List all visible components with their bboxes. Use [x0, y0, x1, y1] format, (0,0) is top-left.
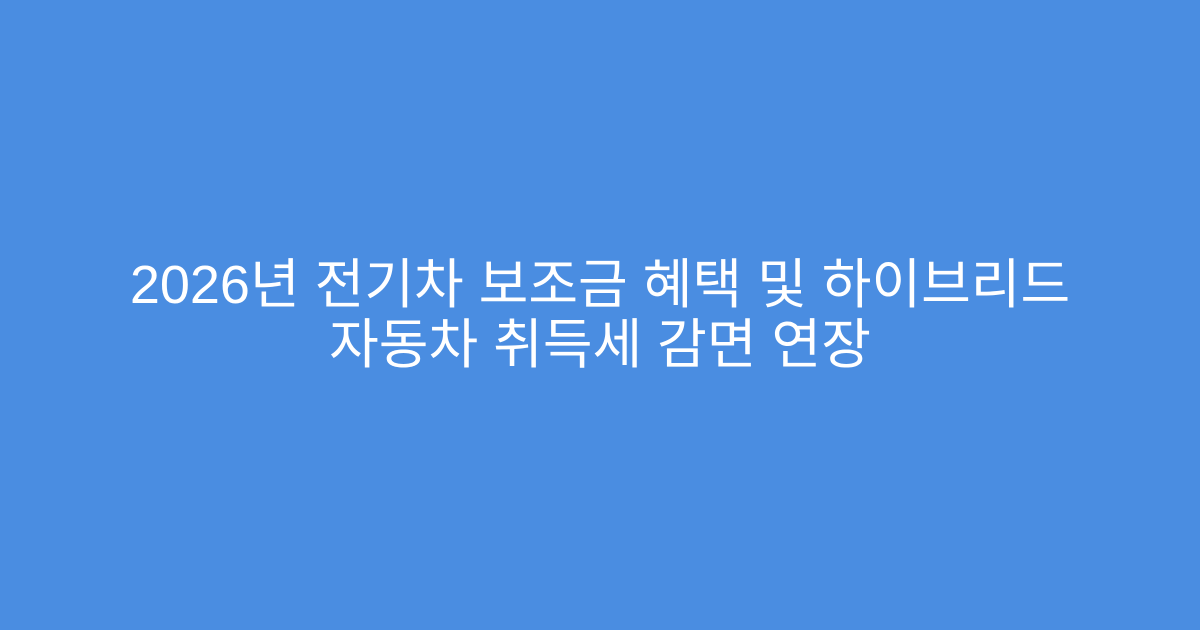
card-content-container: 2026년 전기차 보조금 혜택 및 하이브리드 자동차 취득세 감면 연장 — [0, 255, 1200, 375]
og-card-canvas: 2026년 전기차 보조금 혜택 및 하이브리드 자동차 취득세 감면 연장 — [0, 0, 1200, 630]
page-title: 2026년 전기차 보조금 혜택 및 하이브리드 자동차 취득세 감면 연장 — [75, 255, 1125, 375]
